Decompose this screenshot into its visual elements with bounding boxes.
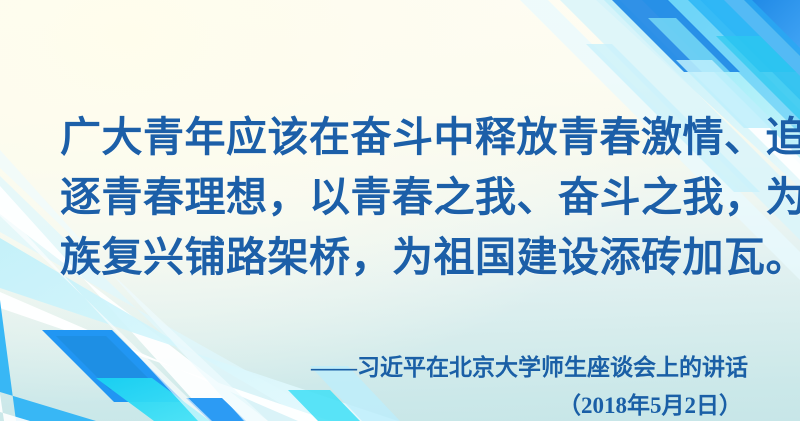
quote-line-3: 族复兴铺路架桥，为祖国建设添砖加瓦。 bbox=[60, 227, 750, 287]
quote-line-2: 逐青春理想，以青春之我、奋斗之我，为民 bbox=[60, 167, 750, 227]
attribution-block: ——习近平在北京大学师生座谈会上的讲话 （2018年5月2日） bbox=[311, 350, 748, 424]
quote-banner: 广大青年应该在奋斗中释放青春激情、追 逐青春理想，以青春之我、奋斗之我，为民 族… bbox=[0, 0, 800, 438]
quote-text: 广大青年应该在奋斗中释放青春激情、追 逐青春理想，以青春之我、奋斗之我，为民 族… bbox=[60, 107, 750, 287]
attribution-source: ——习近平在北京大学师生座谈会上的讲话 bbox=[311, 350, 748, 386]
quote-line-1: 广大青年应该在奋斗中释放青春激情、追 bbox=[60, 107, 750, 167]
attribution-date: （2018年5月2日） bbox=[311, 388, 742, 424]
